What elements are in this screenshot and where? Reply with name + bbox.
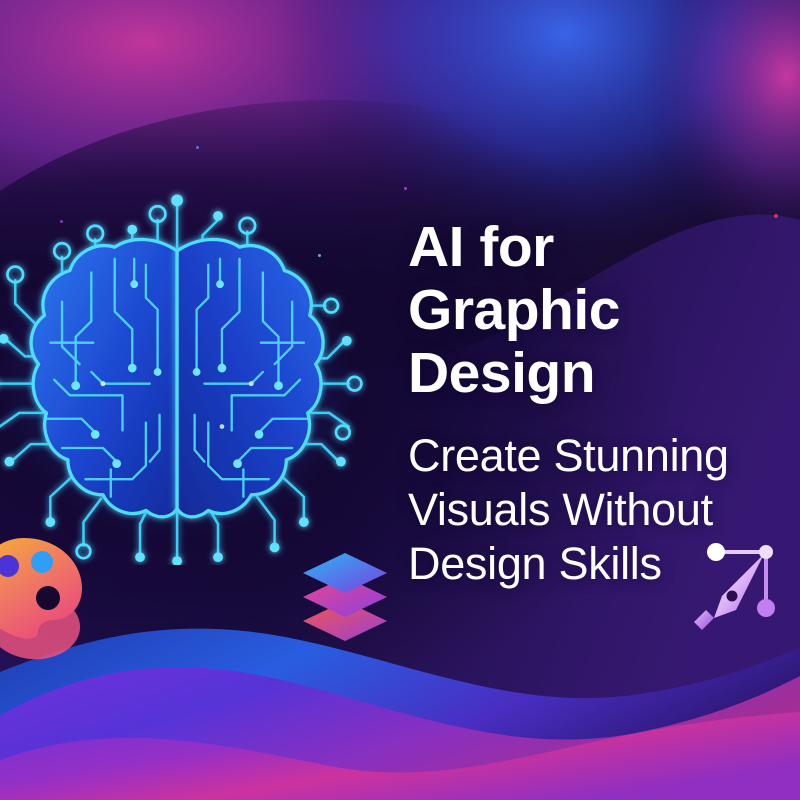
layers-icon <box>295 545 395 645</box>
sparkle-dot <box>196 146 199 149</box>
pen-tool-icon <box>692 534 792 634</box>
sparkle-dot <box>404 187 407 190</box>
palette-icon <box>0 532 92 642</box>
ai-circuit-brain-illustration <box>0 175 376 565</box>
page-title: AI for Graphic Design <box>408 216 800 405</box>
banner-canvas: AI for Graphic Design Create Stunning Vi… <box>0 0 800 800</box>
